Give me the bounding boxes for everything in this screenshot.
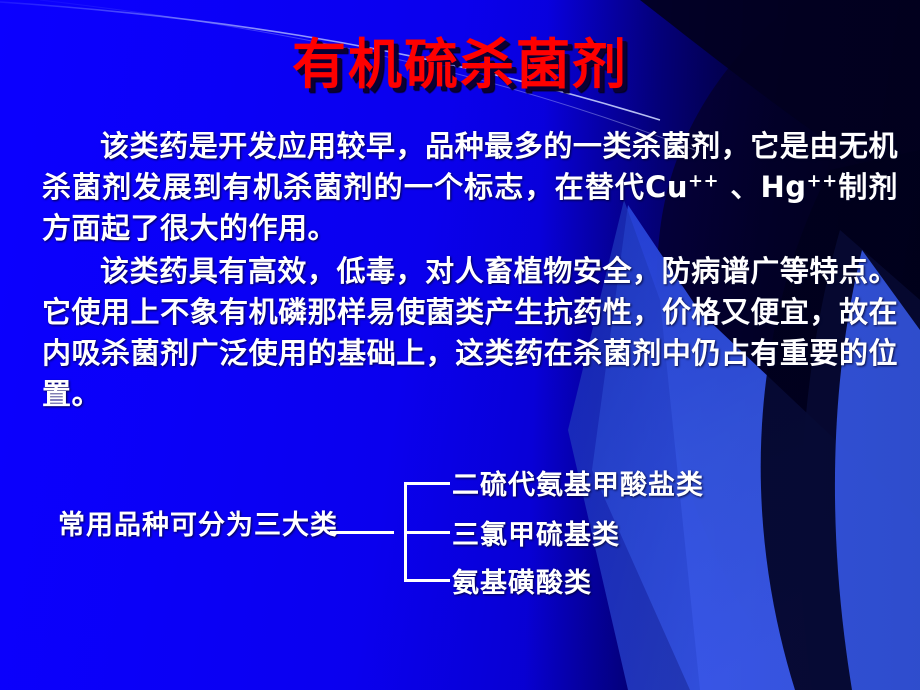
- paragraph-1-segment-2: 、Hg: [719, 170, 806, 204]
- bracket-stem-line: [330, 531, 394, 534]
- bracket-connector: [330, 462, 460, 602]
- page-title: 有机硫杀菌剂: [292, 38, 628, 92]
- category-item-2: 氨基磺酸类: [452, 570, 592, 597]
- bracket-arm-top: [404, 482, 450, 485]
- presentation-slide: 有机硫杀菌剂 该类药是开发应用较早，品种最多的一类杀菌剂，它是由无机杀菌剂发展到…: [0, 0, 920, 690]
- paragraph-1-superscript-1: ++: [688, 170, 719, 191]
- bracket-arm-bottom: [404, 579, 450, 582]
- category-block: 常用品种可分为三大类 二硫代氨基甲酸盐类 三氯甲硫基类 氨基磺酸类: [0, 462, 920, 612]
- paragraph-1: 该类药是开发应用较早，品种最多的一类杀菌剂，它是由无机杀菌剂发展到有机杀菌剂的一…: [42, 126, 898, 249]
- paragraph-2-text: 该类药具有高效，低毒，对人畜植物安全，防病谱广等特点。它使用上不象有机磷那样易使…: [42, 254, 898, 411]
- bracket-arm-middle: [404, 531, 450, 534]
- paragraph-2: 该类药具有高效，低毒，对人畜植物安全，防病谱广等特点。它使用上不象有机磷那样易使…: [42, 251, 898, 415]
- category-label: 常用品种可分为三大类: [58, 512, 338, 539]
- title-block: 有机硫杀菌剂: [0, 38, 920, 92]
- category-item-0: 二硫代氨基甲酸盐类: [452, 472, 704, 499]
- body-text-block: 该类药是开发应用较早，品种最多的一类杀菌剂，它是由无机杀菌剂发展到有机杀菌剂的一…: [0, 126, 920, 415]
- category-item-1: 三氯甲硫基类: [452, 522, 620, 549]
- paragraph-1-superscript-2: ++: [807, 170, 838, 191]
